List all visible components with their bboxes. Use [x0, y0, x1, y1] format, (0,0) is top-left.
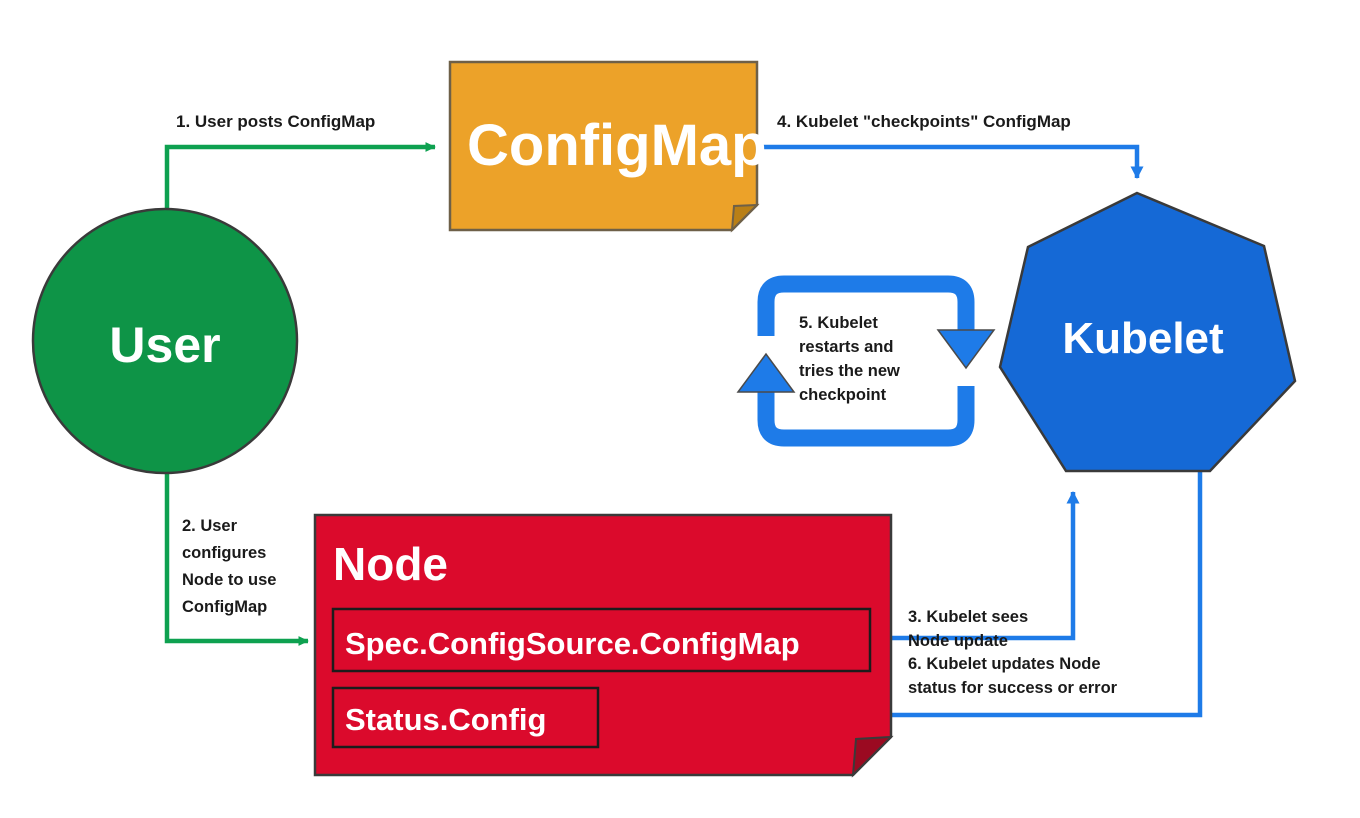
edge-step-6-label-line-2: status for success or error — [908, 679, 1118, 697]
node-field-status-label: Status.Config — [345, 702, 547, 737]
edge-step-3-label-line-1: 3. Kubelet sees — [908, 608, 1028, 626]
node-node[interactable]: Node Spec.ConfigSource.ConfigMap Status.… — [315, 515, 891, 775]
node-configmap[interactable]: ConfigMap — [450, 62, 767, 230]
node-user[interactable]: User — [33, 209, 297, 473]
edge-step-2-label-line-2: configures — [182, 544, 266, 562]
edge-step-2: 2. User configures Node to use ConfigMap — [167, 470, 308, 641]
node-label: Node — [333, 538, 448, 590]
edge-step-5-down-arrowhead — [938, 330, 994, 368]
diagram-canvas: 1. User posts ConfigMap 2. User configur… — [0, 0, 1360, 818]
edge-step-5-label-line-3: tries the new — [799, 362, 900, 380]
kubelet-label: Kubelet — [1062, 314, 1224, 363]
edge-step-4: 4. Kubelet "checkpoints" ConfigMap — [760, 112, 1137, 178]
edge-step-3-label-line-2: Node update — [908, 632, 1008, 650]
edge-step-5-label-line-4: checkpoint — [799, 386, 887, 404]
edge-step-5-label-line-1: 5. Kubelet — [799, 314, 878, 332]
edge-step-3: 3. Kubelet sees Node update — [872, 492, 1073, 650]
edge-step-1-line — [167, 147, 435, 212]
edge-step-1: 1. User posts ConfigMap — [167, 112, 435, 212]
edge-step-1-label: 1. User posts ConfigMap — [176, 112, 375, 131]
edge-step-4-label: 4. Kubelet "checkpoints" ConfigMap — [777, 112, 1071, 131]
edge-step-4-line — [760, 147, 1137, 178]
edge-step-2-label-line-4: ConfigMap — [182, 598, 267, 616]
edge-step-2-label-line-3: Node to use — [182, 571, 276, 589]
edge-step-5: 5. Kubelet restarts and tries the new ch… — [738, 284, 994, 438]
user-label: User — [109, 317, 220, 373]
edge-step-2-label-line-1: 2. User — [182, 517, 238, 535]
edge-step-5-label-line-2: restarts and — [799, 338, 893, 356]
flow-diagram: 1. User posts ConfigMap 2. User configur… — [0, 0, 1360, 818]
node-kubelet[interactable]: Kubelet — [1000, 193, 1295, 471]
configmap-label: ConfigMap — [467, 113, 767, 178]
node-field-spec-label: Spec.ConfigSource.ConfigMap — [345, 626, 800, 661]
edge-step-5-up-arrowhead — [738, 354, 794, 392]
node-fold-corner-icon — [853, 737, 891, 775]
edge-step-6-label-line-1: 6. Kubelet updates Node — [908, 655, 1101, 673]
configmap-fold-corner-icon — [732, 205, 757, 230]
